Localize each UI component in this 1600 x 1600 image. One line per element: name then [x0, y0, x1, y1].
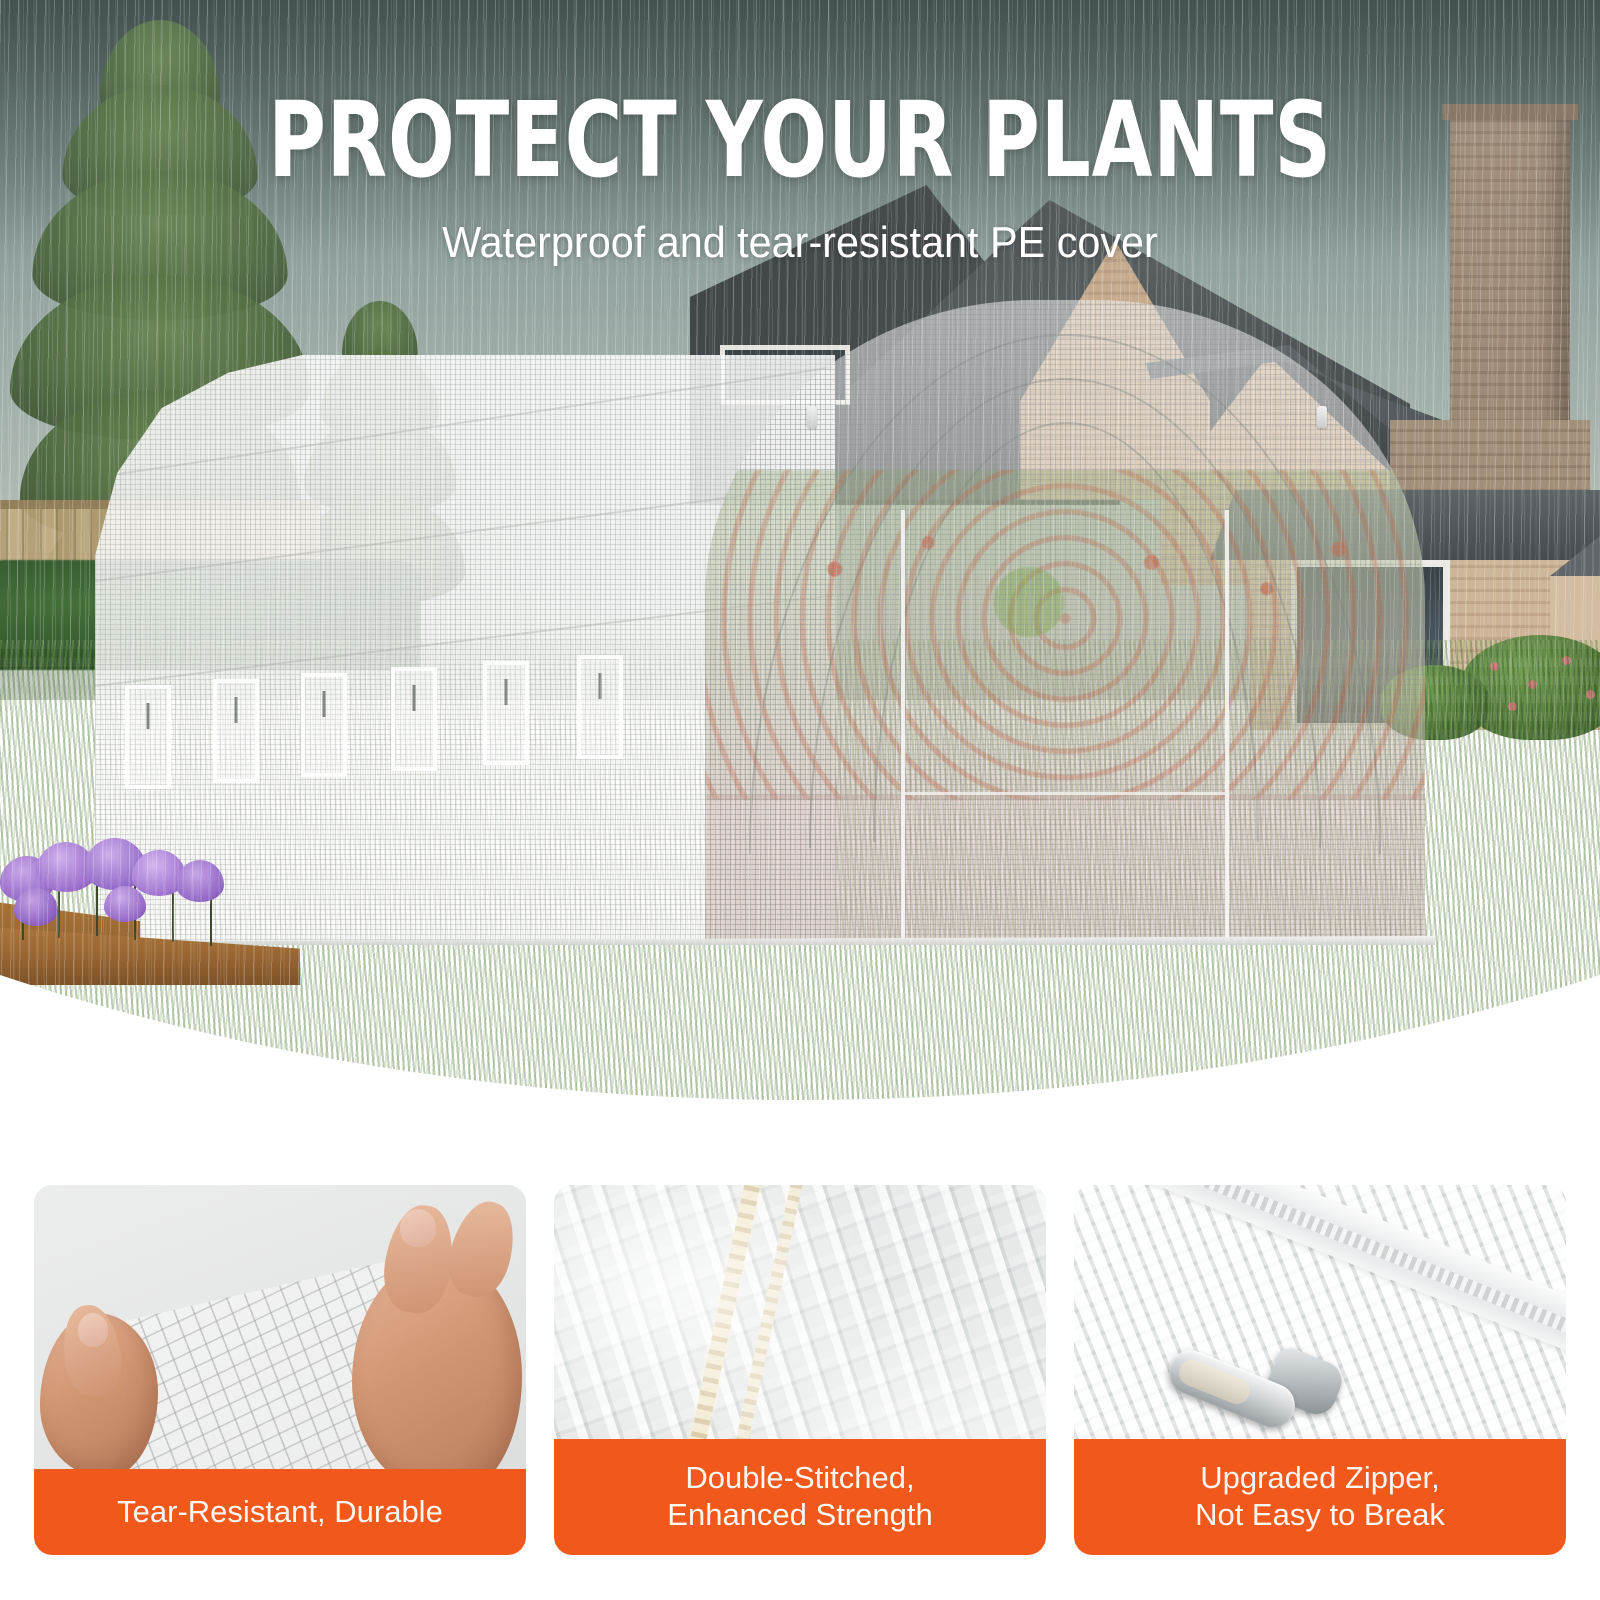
feature-card-double-stitched[interactable]: Double-Stitched, Enhanced Strength [554, 1185, 1046, 1555]
roll-up-vent-window[interactable] [125, 685, 171, 789]
feature-caption-tear-resistant: Tear-Resistant, Durable [34, 1469, 526, 1555]
roll-up-vent-window[interactable] [301, 673, 347, 777]
greenhouse-front-arch [705, 300, 1425, 945]
vent-zipper-pull[interactable] [599, 673, 602, 699]
feature-card-row: Tear-Resistant, Durable Double-Stitched,… [0, 1185, 1600, 1585]
roll-up-vent-window[interactable] [391, 667, 437, 771]
hero-headline: PROTECT YOUR PLANTS [128, 88, 1472, 192]
door-zipper-pull-right[interactable] [1317, 406, 1327, 428]
roll-up-vent-window[interactable] [577, 655, 623, 759]
feature-caption-upgraded-zipper: Upgraded Zipper, Not Easy to Break [1074, 1439, 1566, 1555]
vent-zipper-pull[interactable] [235, 697, 238, 723]
caption-line-1: Double-Stitched, [685, 1460, 914, 1495]
door-frame-rail [901, 792, 1229, 795]
door-zipper-pull-left[interactable] [807, 406, 817, 428]
vent-zipper-pull[interactable] [147, 703, 150, 729]
roll-up-vent-window[interactable] [213, 679, 259, 783]
feature-card-tear-resistant[interactable]: Tear-Resistant, Durable [34, 1185, 526, 1555]
hero-banner: PROTECT YOUR PLANTS Waterproof and tear-… [0, 0, 1600, 1100]
hero-subheadline: Waterproof and tear-resistant PE cover [48, 218, 1552, 268]
feature-caption-double-stitched: Double-Stitched, Enhanced Strength [554, 1439, 1046, 1555]
vent-zipper-pull[interactable] [323, 691, 326, 717]
vent-zipper-pull[interactable] [505, 679, 508, 705]
door-frame-post [901, 510, 905, 945]
feature-card-upgraded-zipper[interactable]: Upgraded Zipper, Not Easy to Break [1074, 1185, 1566, 1555]
tunnel-greenhouse [95, 300, 1435, 940]
vent-zipper-pull[interactable] [413, 685, 416, 711]
caption-line-2: Not Easy to Break [1195, 1497, 1445, 1532]
caption-line-2: Enhanced Strength [667, 1497, 932, 1532]
caption-line-1: Upgraded Zipper, [1200, 1460, 1440, 1495]
roll-up-vent-window[interactable] [483, 661, 529, 765]
door-frame-post [1225, 510, 1229, 945]
